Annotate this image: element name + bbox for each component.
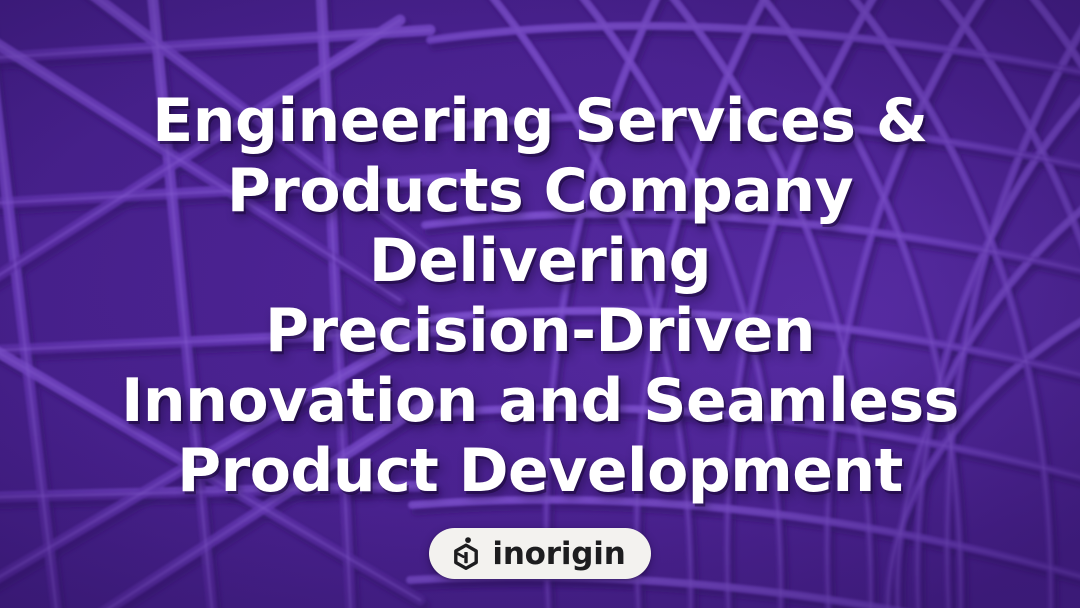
headline-line-1: Engineering Services & bbox=[18, 86, 1062, 156]
promo-banner: Engineering Services & Products Company … bbox=[0, 0, 1080, 608]
headline-line-4: Precision-Driven bbox=[18, 296, 1062, 366]
hexagon-cube-icon bbox=[449, 536, 483, 570]
headline-line-5: Innovation and Seamless bbox=[18, 366, 1062, 436]
headline-line-2: Products Company bbox=[18, 156, 1062, 226]
headline-line-3: Delivering bbox=[18, 226, 1062, 296]
headline-line-6: Product Development bbox=[18, 436, 1062, 506]
logo-area: inorigin bbox=[0, 528, 1080, 579]
inorigin-logo[interactable]: inorigin bbox=[429, 528, 650, 579]
logo-wordmark: inorigin bbox=[492, 539, 625, 570]
banner-headline: Engineering Services & Products Company … bbox=[0, 86, 1080, 506]
